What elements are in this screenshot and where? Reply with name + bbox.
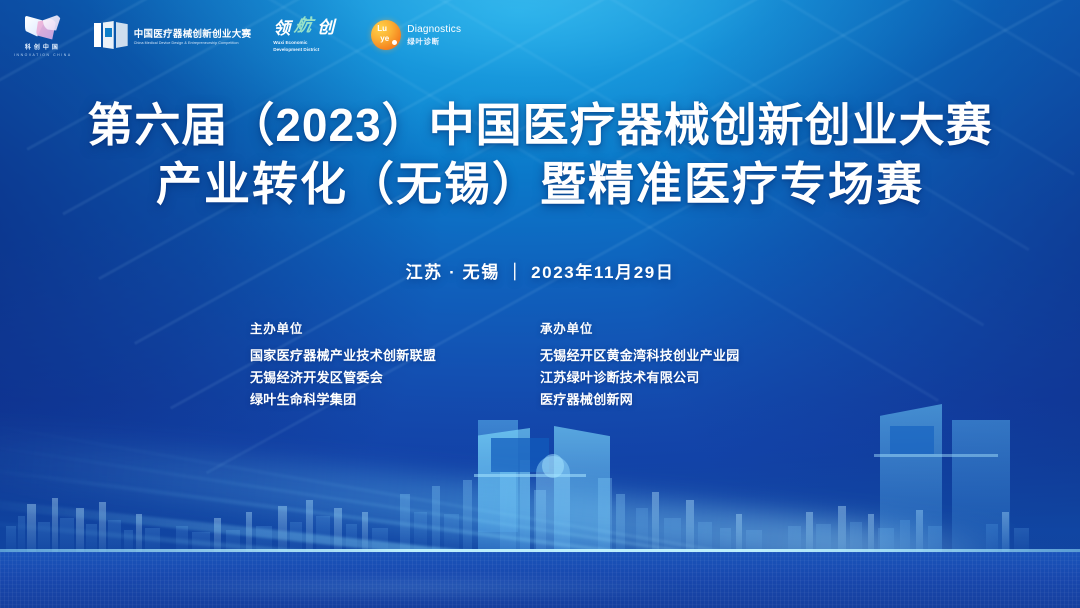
logo-wuxi-edd-cal-a: 领 [273,20,290,37]
luye-circle-icon: Lu ye [371,20,401,50]
butterfly-origami-icon [23,14,63,40]
page-title: 第六届（2023）中国医疗器械创新创业大赛 产业转化（无锡）暨精准医疗专场赛 [0,96,1080,214]
logo-innovation-china-cn: 科创中国 [25,42,61,51]
luye-badge-dot [392,40,397,45]
logo-luye-diagnostics[interactable]: Lu ye Diagnostics 绿叶诊断 [371,20,461,50]
coorganizer-item: 江苏绿叶诊断技术有限公司 [540,367,830,389]
logo-wuxi-edd-cal-b: 航 [293,17,314,34]
coorganizer-item: 医疗器械创新网 [540,389,830,411]
coorganizer-item: 无锡经开区黄金湾科技创业产业园 [540,345,830,367]
luye-badge-bottom: ye [380,35,389,43]
host-item: 国家医疗器械产业技术创新联盟 [250,345,540,367]
event-banner: 科创中国 INNOVATION CHINA 中国医疗器械创新创业大赛 China… [0,0,1080,608]
host-column: 主办单位 国家医疗器械产业技术创新联盟 无锡经济开发区管委会 绿叶生命科学集团 [250,318,540,410]
event-location-date: 江苏 · 无锡 ｜ 2023年11月29日 [0,258,1080,283]
coorganizer-heading: 承办单位 [540,318,830,337]
gate-mark-icon [94,21,128,49]
sponsor-logo-bar: 科创中国 INNOVATION CHINA 中国医疗器械创新创业大赛 China… [14,12,461,58]
logo-wuxi-edd[interactable]: 领 航 创 Wuxi Economic Development District [273,17,349,53]
host-heading: 主办单位 [250,318,540,337]
logo-innovation-china-en: INNOVATION CHINA [14,53,72,57]
logo-luye-en: Diagnostics [407,24,461,35]
logo-innovation-china[interactable]: 科创中国 INNOVATION CHINA [14,14,72,57]
logo-luye-cn: 绿叶诊断 [407,36,461,47]
logo-cmdc-en: China Medical Device Design & Entreprene… [134,41,252,45]
coorganizer-column: 承办单位 无锡经开区黄金湾科技创业产业园 江苏绿叶诊断技术有限公司 医疗器械创新… [540,318,830,410]
logo-cmdc[interactable]: 中国医疗器械创新创业大赛 China Medical Device Design… [94,21,252,49]
logo-wuxi-edd-en2: Development District [273,47,319,53]
logo-wuxi-edd-cal-c: 创 [317,19,334,36]
title-line-1: 第六届（2023）中国医疗器械创新创业大赛 [0,96,1080,155]
banner-content: 第六届（2023）中国医疗器械创新创业大赛 产业转化（无锡）暨精准医疗专场赛 江… [0,0,1080,608]
title-line-2: 产业转化（无锡）暨精准医疗专场赛 [0,155,1080,214]
host-item: 无锡经济开发区管委会 [250,367,540,389]
logo-cmdc-cn: 中国医疗器械创新创业大赛 [134,26,252,40]
host-item: 绿叶生命科学集团 [250,389,540,411]
logo-wuxi-edd-en1: Wuxi Economic [273,40,307,46]
calligraphy-icon: 领 航 创 [273,17,349,39]
organizer-columns: 主办单位 国家医疗器械产业技术创新联盟 无锡经济开发区管委会 绿叶生命科学集团 … [0,318,1080,410]
luye-badge-top: Lu [377,25,387,33]
